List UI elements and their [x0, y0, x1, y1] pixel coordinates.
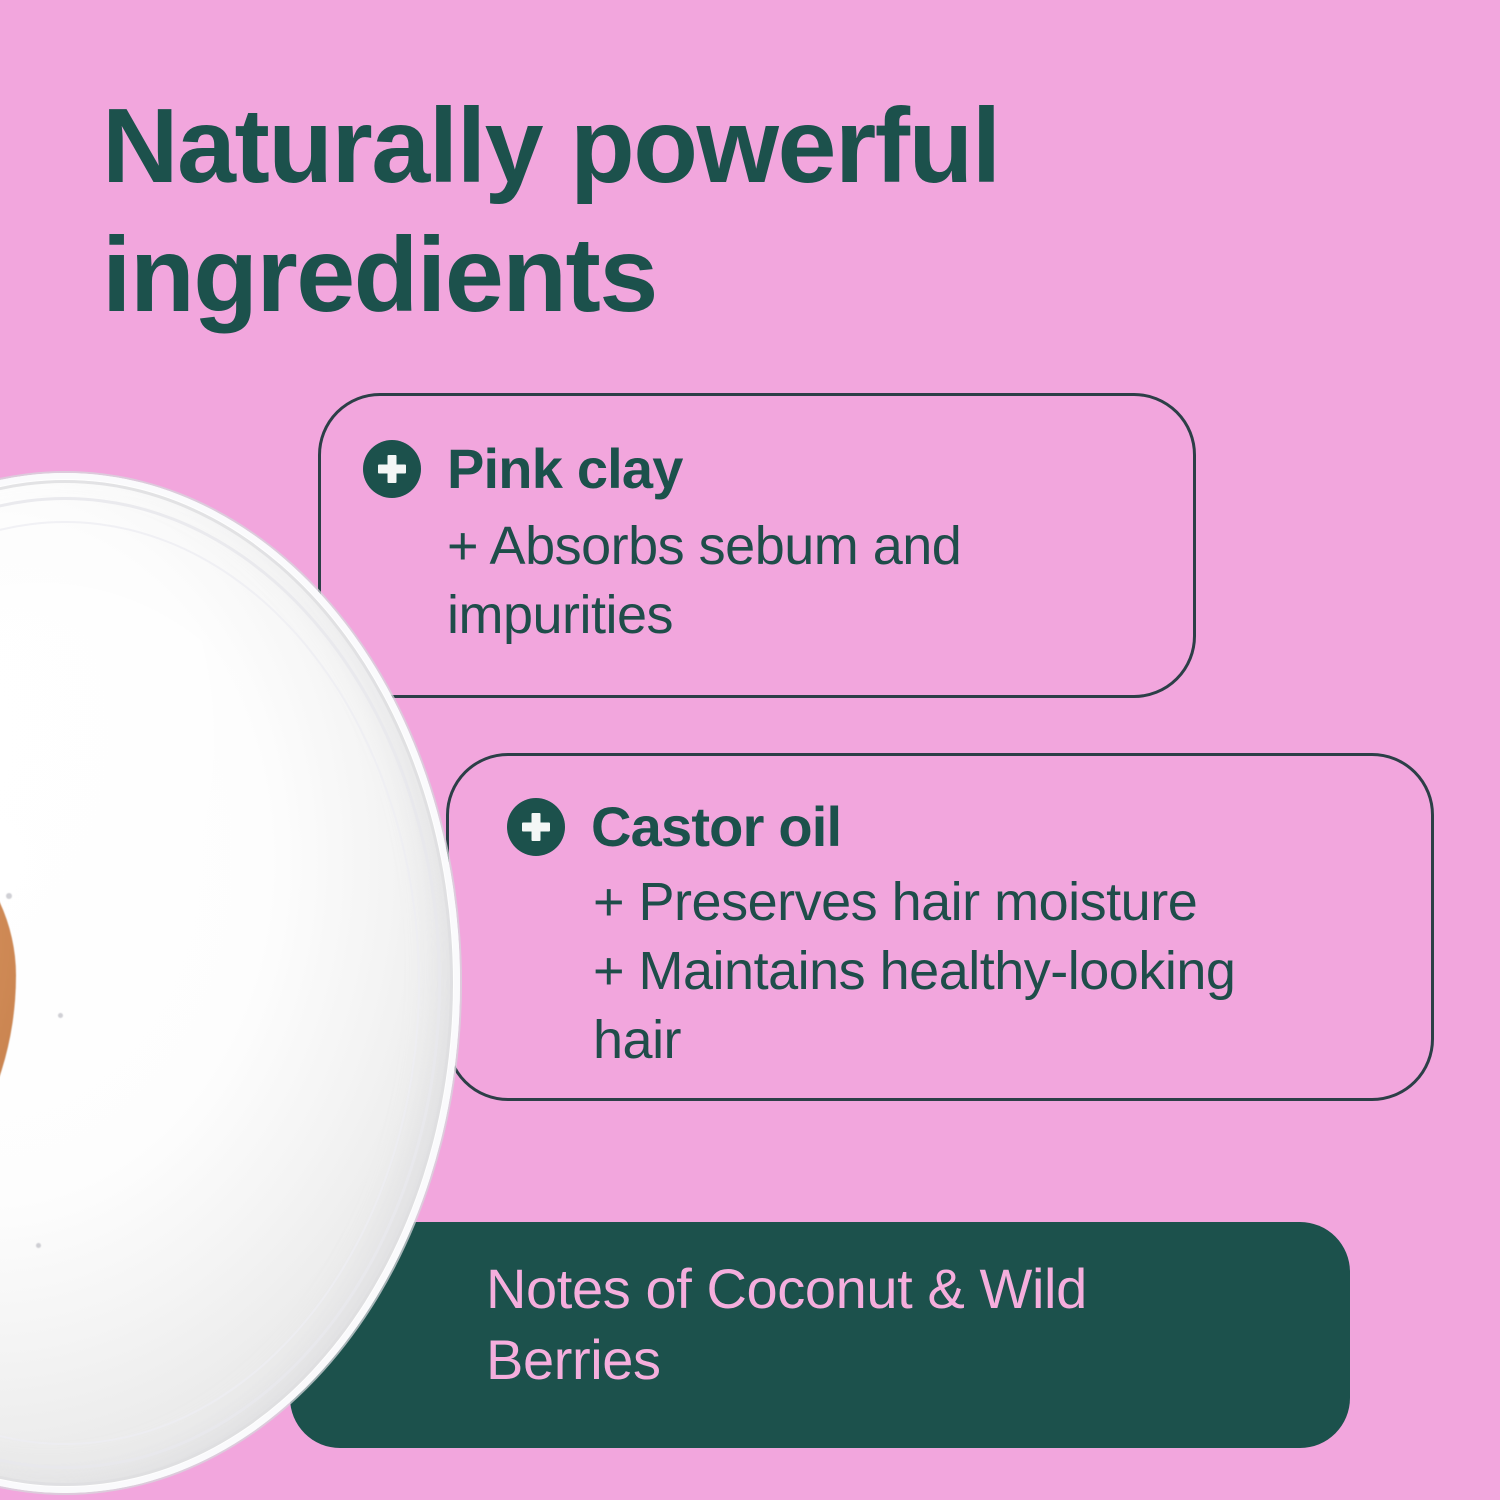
- ingredient-title: Pink clay: [447, 441, 683, 497]
- ingredient-benefit-line: + Maintains healthy-looking: [593, 937, 1423, 1006]
- headline-line-1: Naturally powerful: [102, 82, 1282, 211]
- ingredient-benefits: + Absorbs sebum and impurities: [447, 512, 1147, 650]
- plus-icon: [507, 798, 565, 856]
- ingredient-title: Castor oil: [591, 799, 841, 855]
- scent-notes-line-2: Berries: [486, 1328, 661, 1391]
- dish-dust-speck: [58, 1013, 63, 1018]
- ingredient-card-header: Pink clay: [363, 440, 683, 498]
- ingredient-benefit-line: + Absorbs sebum and: [447, 512, 1147, 581]
- scent-notes-banner: Notes of Coconut & Wild Berries: [290, 1222, 1350, 1448]
- infographic-canvas: Naturally powerful ingredients Notes of …: [0, 0, 1500, 1500]
- dish-dust-speck: [36, 1243, 41, 1248]
- clay-powder-pile: [0, 773, 126, 1293]
- dish-sheen: [0, 583, 320, 1203]
- dish-dust-speck: [6, 893, 12, 899]
- ingredient-card-castor-oil: Castor oil + Preserves hair moisture + M…: [446, 753, 1434, 1101]
- plus-icon: [363, 440, 421, 498]
- ingredient-benefit-line: + Preserves hair moisture: [593, 868, 1423, 937]
- ingredient-card-pink-clay: Pink clay + Absorbs sebum and impurities: [318, 393, 1196, 698]
- page-title: Naturally powerful ingredients: [102, 82, 1282, 341]
- ingredient-benefit-line: impurities: [447, 581, 1147, 650]
- scent-notes-line-1: Notes of Coconut & Wild: [486, 1257, 1087, 1320]
- headline-line-2: ingredients: [102, 211, 1282, 340]
- ingredient-card-header: Castor oil: [507, 798, 841, 856]
- ingredient-benefits: + Preserves hair moisture + Maintains he…: [593, 868, 1423, 1075]
- scent-notes-text: Notes of Coconut & Wild Berries: [486, 1254, 1246, 1395]
- powder-mound: [0, 783, 16, 1223]
- ingredient-benefit-line: hair: [593, 1006, 1423, 1075]
